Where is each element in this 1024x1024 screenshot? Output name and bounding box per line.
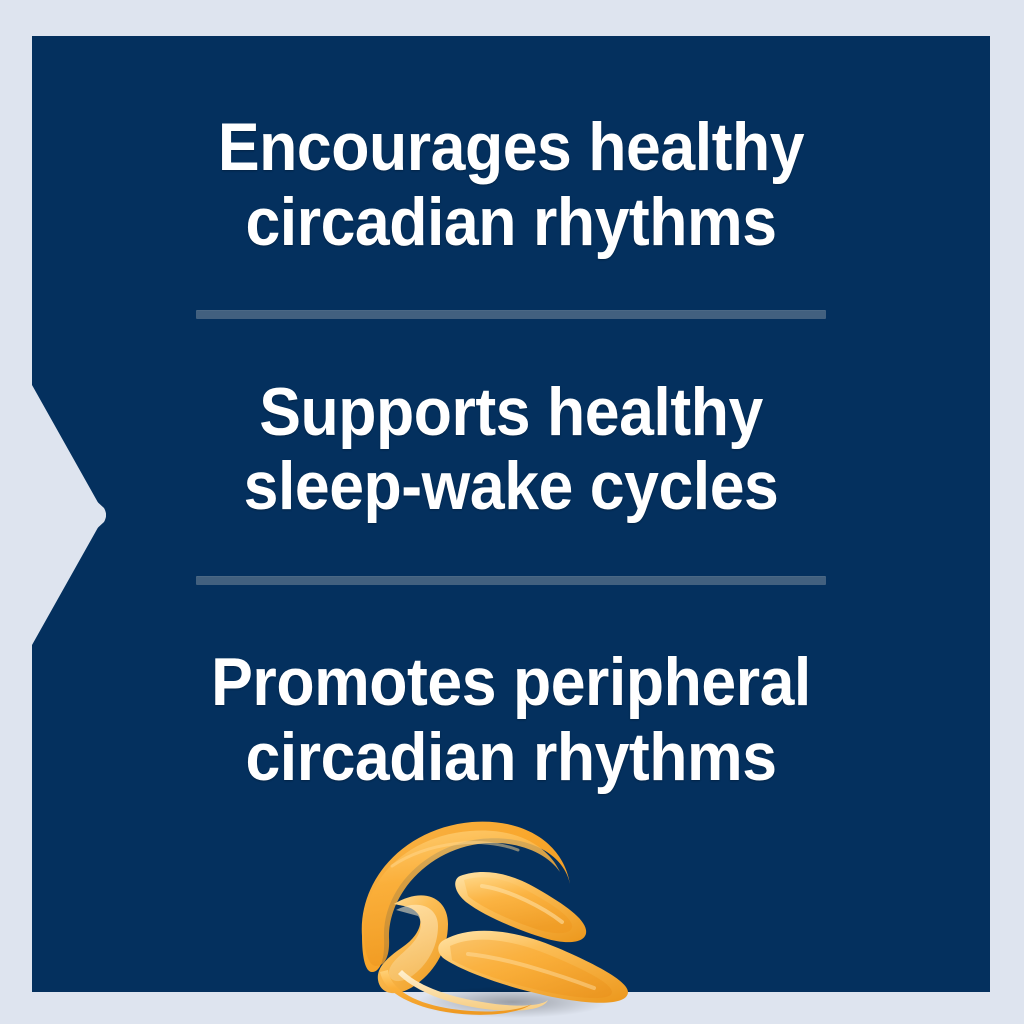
- benefit-divider-2: [196, 576, 826, 585]
- benefit-item-sleep-wake-cycles: Supports healthy sleep-wake cycles: [148, 375, 875, 525]
- orange-peel-image: [332, 806, 662, 1024]
- benefit-divider-1: [196, 310, 826, 319]
- benefit-item-circadian-rhythms: Encourages healthy circadian rhythms: [148, 110, 875, 260]
- benefits-panel: Encourages healthy circadian rhythms Sup…: [0, 0, 1024, 1024]
- benefit-item-peripheral-circadian-rhythms: Promotes peripheral circadian rhythms: [148, 645, 875, 795]
